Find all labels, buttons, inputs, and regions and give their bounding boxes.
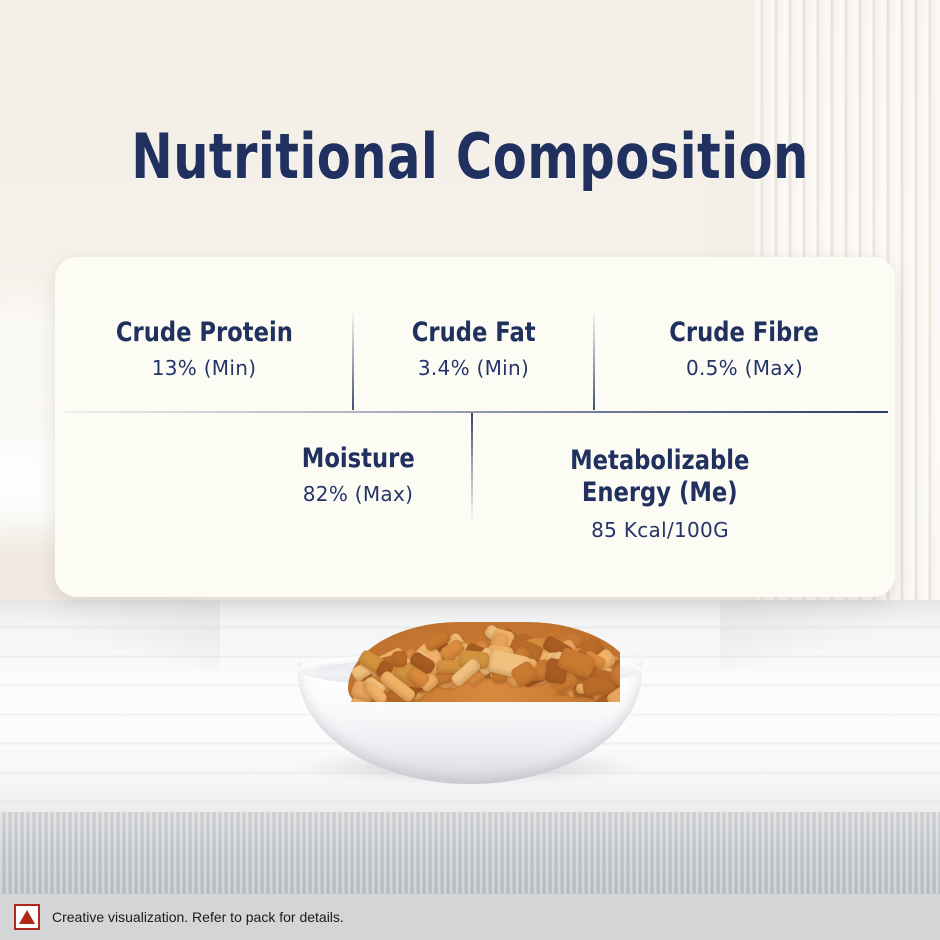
nutrient-value: 3.4% (Min) [418,356,529,380]
nutrition-item-crude-fat: Crude Fat 3.4% (Min) [353,257,594,412]
table-front-face [0,812,940,894]
nutrition-top-row: Crude Protein 13% (Min) Crude Fat 3.4% (… [55,257,895,412]
footer-bar: Creative visualization. Refer to pack fo… [0,894,940,940]
nutrition-item-metabolizable-energy: Metabolizable Energy (Me) 85 Kcal/100G [487,413,833,542]
nutrition-card: Crude Protein 13% (Min) Crude Fat 3.4% (… [55,257,895,597]
nutrient-label-line2: Energy (Me) [582,477,738,509]
vertical-divider [352,310,354,410]
nutrition-bottom-row: Moisture 82% (Max) Metabolizable Energy … [55,413,895,597]
nutrient-label: Crude Fat [412,319,536,347]
nutrient-label: Crude Protein [115,319,292,347]
nutrient-label-line1: Metabolizable [570,445,749,477]
page-title: Nutritional Composition [94,120,846,193]
footer-disclaimer: Creative visualization. Refer to pack fo… [52,909,344,925]
nutrient-value: 85 Kcal/100G [591,518,729,542]
table-perspective-right [720,600,940,670]
non-vegetarian-mark-icon [14,904,40,930]
nutrient-value: 13% (Min) [152,356,257,380]
triangle-glyph [19,910,35,924]
table-perspective-left [0,600,220,670]
nutrition-item-moisture: Moisture 82% (Max) [243,413,473,506]
nutrition-item-crude-protein: Crude Protein 13% (Min) [55,257,353,412]
food-chunk [392,651,408,667]
nutrient-value: 0.5% (Max) [686,356,803,380]
nutrient-label: Crude Fibre [670,319,820,347]
vertical-divider [593,310,595,410]
product-infographic: Nutritional Composition Crude Protein 13… [0,0,940,940]
nutrition-item-crude-fibre: Crude Fibre 0.5% (Max) [594,257,895,412]
nutrient-label: Moisture [302,445,415,473]
food-chunks [320,622,620,702]
product-bowl-image [286,618,654,788]
nutrient-value: 82% (Max) [303,482,413,506]
